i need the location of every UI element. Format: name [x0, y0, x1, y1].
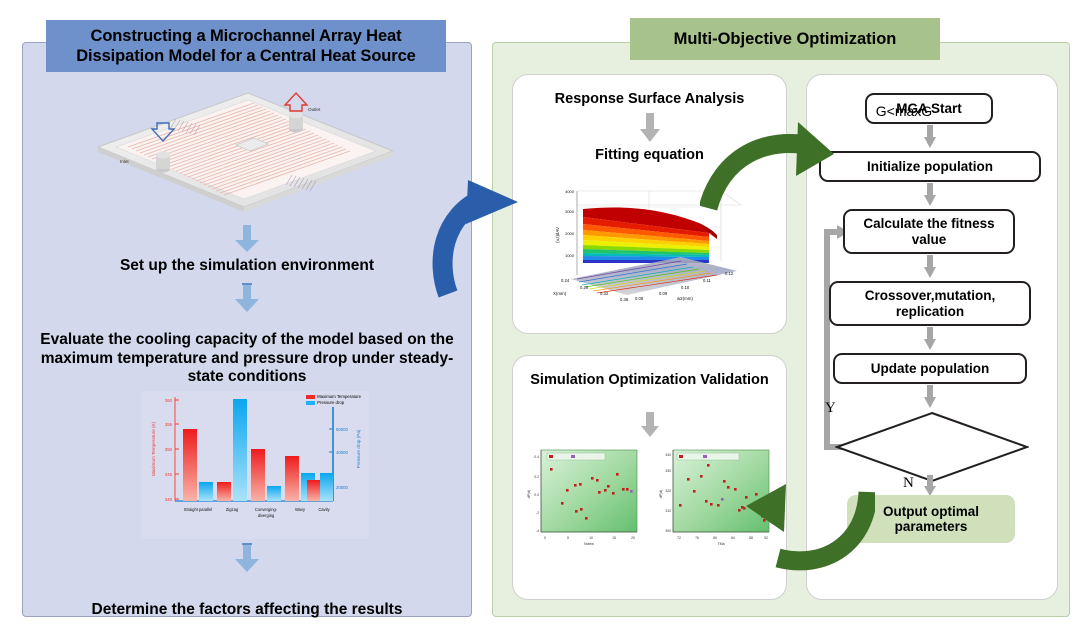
- svg-text:dP(d): dP(d): [659, 490, 663, 499]
- outlet-label: Outlet: [308, 107, 320, 112]
- svg-text:2000: 2000: [565, 231, 575, 236]
- svg-text:-4: -4: [536, 529, 539, 533]
- svg-text:4000: 4000: [565, 189, 575, 194]
- svg-text:0.4: 0.4: [534, 455, 539, 459]
- down-arrow-1: [234, 225, 260, 253]
- svg-text:0.08: 0.08: [635, 296, 644, 301]
- svg-text:340: 340: [665, 453, 671, 457]
- svg-text:320: 320: [665, 489, 671, 493]
- arrow-init-to-calc: [923, 183, 937, 207]
- svg-text:0.32: 0.32: [600, 291, 609, 296]
- right-panel-title: Multi-Objective Optimization: [630, 18, 940, 60]
- svg-text:330: 330: [665, 469, 671, 473]
- legend-swatch-blue: [306, 401, 315, 405]
- legend-label-pressure-drop: Pressure drop: [317, 400, 344, 406]
- inlet-label: Inlet: [120, 159, 129, 164]
- svg-text:0.0: 0.0: [534, 493, 539, 497]
- svg-text:0.36: 0.36: [620, 297, 629, 302]
- response-surface-heading: Response Surface Analysis: [513, 91, 786, 108]
- left-step-2: Evaluate the cooling capacity of the mod…: [23, 331, 471, 387]
- arrow-decision-to-output: [923, 475, 937, 497]
- svg-text:10: 10: [589, 536, 593, 540]
- cooling-performance-bar-chart: 340 345 350 355 360 20000 40000 50000 60…: [141, 391, 369, 539]
- flow-node-initialize-population[interactable]: Initialize population: [819, 151, 1041, 182]
- arrow-calc-to-crossover: [923, 255, 937, 279]
- left-panel-title: Constructing a Microchannel Array Heat D…: [46, 20, 446, 72]
- legend-swatch-red: [306, 395, 315, 399]
- decision-no-label: N: [903, 475, 914, 492]
- svg-text:0.11: 0.11: [703, 278, 712, 283]
- svg-text:310: 310: [665, 509, 671, 513]
- bar-chart-legend: Maximum Temperature Pressure drop: [304, 393, 363, 407]
- svg-text:72: 72: [677, 536, 681, 540]
- flow-node-crossover-mutation[interactable]: Crossover,mutation, replication: [829, 281, 1031, 326]
- svg-text:0.28: 0.28: [580, 285, 589, 290]
- svg-text:84: 84: [731, 536, 735, 540]
- down-arrow-rsa: [639, 113, 661, 143]
- decision-yes-label: Y: [825, 400, 836, 417]
- down-arrow-validation: [640, 412, 660, 438]
- arrow-update-to-decision: [923, 385, 937, 409]
- svg-text:300: 300: [665, 529, 671, 533]
- validation-scatter-plot-1: -4-2 0.00.2 0.4 05 1015 20 Nview dP(d): [523, 442, 645, 546]
- infographic-root: Inlet Outlet Set up the simulation envir…: [0, 0, 1092, 635]
- legend-item-pressure-drop: Pressure drop: [306, 400, 361, 406]
- flow-node-update-population[interactable]: Update population: [833, 353, 1027, 384]
- svg-text:-2: -2: [536, 511, 539, 515]
- svg-text:TMa: TMa: [717, 542, 724, 546]
- svg-text:0.09: 0.09: [659, 291, 668, 296]
- svg-text:0.24: 0.24: [561, 278, 570, 283]
- svg-text:0: 0: [544, 536, 546, 540]
- svg-text:0.12: 0.12: [725, 271, 734, 276]
- svg-text:20: 20: [631, 536, 635, 540]
- left-step-1: Set up the simulation environment: [23, 257, 471, 276]
- validation-heading: Simulation Optimization Validation: [513, 372, 786, 389]
- svg-text:w2(mm): w2(mm): [677, 296, 693, 301]
- left-step-3: Determine the factors affecting the resu…: [23, 601, 471, 620]
- svg-text:3000: 3000: [565, 209, 575, 214]
- down-arrow-3: [234, 543, 260, 573]
- svg-text:76: 76: [695, 536, 699, 540]
- svg-text:1000: 1000: [565, 253, 575, 258]
- svg-text:(u,t)dAV: (u,t)dAV: [555, 227, 560, 243]
- decision-label: G<maxG: [807, 75, 1001, 147]
- svg-text:80: 80: [713, 536, 717, 540]
- svg-text:dP(d): dP(d): [527, 490, 531, 499]
- svg-text:0.10: 0.10: [681, 285, 690, 290]
- svg-text:0.2: 0.2: [534, 475, 539, 479]
- blue-curved-arrow: [432, 176, 552, 306]
- down-arrow-2: [234, 283, 260, 313]
- left-panel: Inlet Outlet Set up the simulation envir…: [22, 42, 472, 617]
- flow-node-calculate-fitness[interactable]: Calculate the fitness value: [843, 209, 1015, 254]
- arrow-crossover-to-update: [923, 327, 937, 351]
- green-curved-arrow-top: [700, 120, 835, 225]
- svg-text:Nview: Nview: [584, 542, 594, 546]
- svg-text:5: 5: [567, 536, 569, 540]
- svg-text:15: 15: [612, 536, 616, 540]
- microchannel-array-3d-model: Inlet Outlet: [58, 85, 438, 220]
- green-curved-arrow-bottom: [740, 470, 875, 585]
- svg-text:X(mm): X(mm): [553, 291, 567, 296]
